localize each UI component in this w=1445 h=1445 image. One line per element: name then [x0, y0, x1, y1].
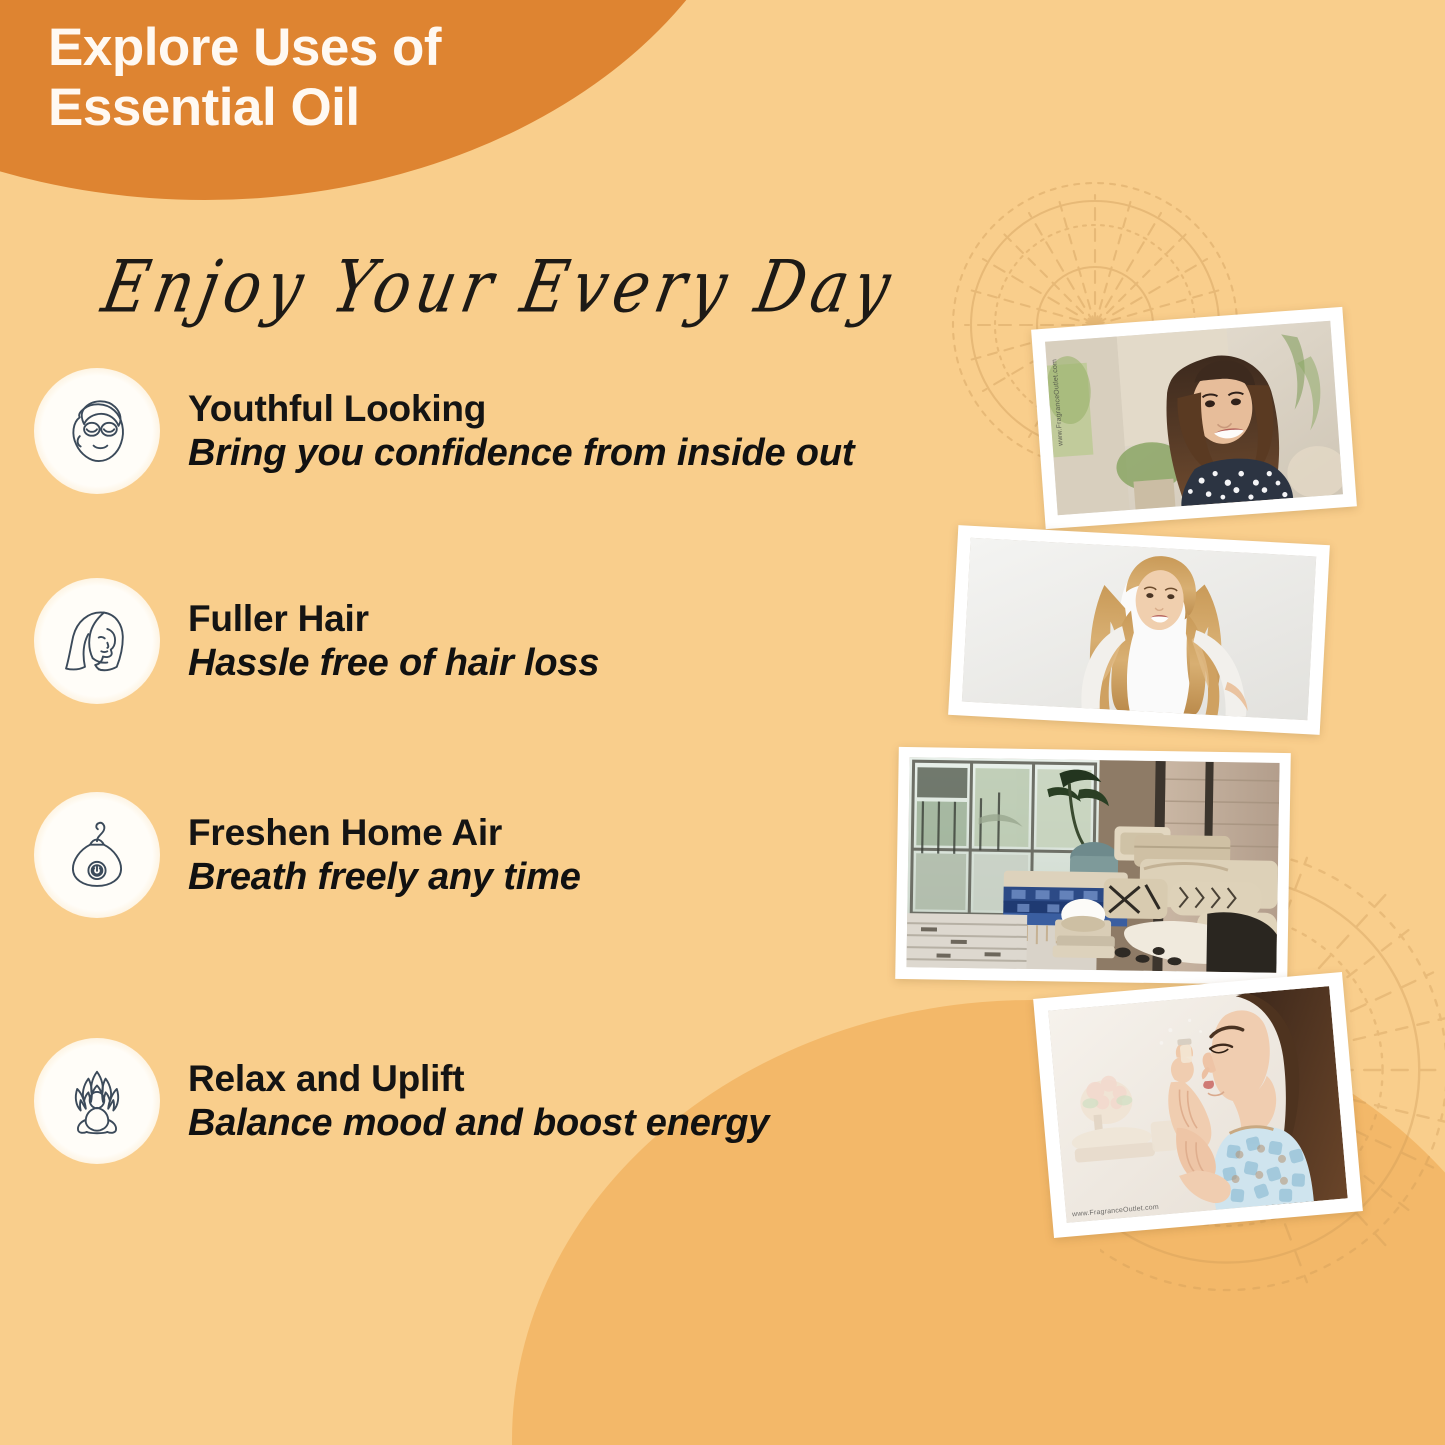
poster-canvas: Explore Uses of Essential Oil Enjoy Your…	[0, 0, 1445, 1445]
long-hair-profile-icon	[34, 578, 160, 704]
feature-row: Youthful Looking Bring you confidence fr…	[34, 368, 854, 494]
feature-text: Fuller Hair Hassle free of hair loss	[188, 596, 599, 686]
photo-blonde-wavy-hair	[948, 525, 1330, 735]
feature-title: Fuller Hair	[188, 598, 599, 641]
feature-row: Fuller Hair Hassle free of hair loss	[34, 578, 599, 704]
feature-text: Freshen Home Air Breath freely any time	[188, 810, 581, 900]
photo-image	[962, 538, 1316, 720]
photo-smiling-woman: www.FragranceOutlet.com	[1031, 307, 1357, 529]
tagline-script-text: Enjoy Your Every Day	[96, 246, 872, 330]
lotus-meditation-icon	[34, 1038, 160, 1164]
feature-subtitle: Balance mood and boost energy	[188, 1101, 769, 1146]
photo-woman-applying-perfume: www.FragranceOutlet.com	[1033, 972, 1363, 1238]
photo-image	[1045, 321, 1343, 515]
feature-subtitle: Hassle free of hair loss	[188, 641, 599, 686]
feature-text: Relax and Uplift Balance mood and boost …	[188, 1056, 769, 1146]
feature-title: Relax and Uplift	[188, 1058, 769, 1101]
photo-image	[906, 757, 1279, 973]
feature-row: Relax and Uplift Balance mood and boost …	[34, 1038, 769, 1164]
feature-title: Youthful Looking	[188, 388, 854, 431]
photo-image	[1048, 986, 1347, 1223]
photo-living-room-diffuser	[895, 747, 1291, 985]
feature-text: Youthful Looking Bring you confidence fr…	[188, 386, 854, 476]
page-title: Explore Uses of Essential Oil	[48, 18, 608, 138]
aroma-diffuser-icon	[34, 792, 160, 918]
feature-subtitle: Bring you confidence from inside out	[188, 431, 854, 476]
feature-row: Freshen Home Air Breath freely any time	[34, 792, 581, 918]
facial-mask-icon	[34, 368, 160, 494]
feature-subtitle: Breath freely any time	[188, 855, 581, 900]
feature-title: Freshen Home Air	[188, 812, 581, 855]
